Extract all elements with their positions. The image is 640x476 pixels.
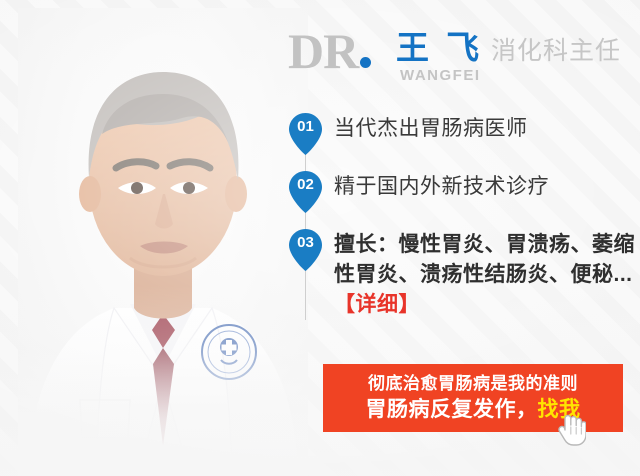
cta-highlight-text: 找我 — [538, 398, 581, 421]
detail-link[interactable]: 【详细】 — [334, 293, 420, 316]
map-pin-icon: 02 — [288, 170, 323, 214]
cta-banner[interactable]: 彻底治愈胃肠病是我的准则 胃肠病反复发作，找我 — [323, 364, 623, 432]
logo-dr-label: DR — [288, 23, 358, 79]
logo-doctor-name: 王 飞 — [396, 30, 483, 66]
credential-item-03: 03 擅长：慢性胃炎、胃溃疡、萎缩性胃炎、溃疡性结肠炎、便秘...【详细】 — [288, 228, 638, 320]
cta-line-2: 胃肠病反复发作，找我 — [366, 396, 581, 424]
doctor-logo-header: DR 王 飞 WANGFEI 消化科主任 — [288, 26, 633, 92]
credential-number: 02 — [288, 176, 323, 193]
credential-specialty-text: 擅长：慢性胃炎、胃溃疡、萎缩性胃炎、溃疡性结肠炎、便秘... — [334, 233, 635, 286]
doctor-portrait — [18, 8, 308, 476]
map-pin-icon: 03 — [288, 228, 323, 272]
logo-doctor-pinyin: WANGFEI — [400, 68, 481, 84]
logo-department-title: 消化科主任 — [491, 37, 621, 65]
credentials-list: 01 当代杰出胃肠病医师 02 精于国内外新技术诊疗 03 擅长：慢性胃炎、胃溃… — [288, 112, 638, 334]
credential-number: 03 — [288, 234, 323, 251]
credential-number: 01 — [288, 118, 323, 135]
cta-line-2-prefix: 胃肠病反复发作， — [366, 398, 538, 421]
blue-dot-icon — [360, 57, 371, 68]
map-pin-icon: 01 — [288, 112, 323, 156]
cta-line-1: 彻底治愈胃肠病是我的准则 — [368, 372, 578, 396]
credential-text: 精于国内外新技术诊疗 — [334, 170, 638, 202]
logo-dr-text: DR — [288, 26, 371, 76]
credential-text: 当代杰出胃肠病医师 — [334, 112, 638, 144]
doctor-promo-banner: DR 王 飞 WANGFEI 消化科主任 01 当代杰出胃肠病医师 02 精于国… — [0, 0, 640, 476]
credential-item-01: 01 当代杰出胃肠病医师 — [288, 112, 638, 156]
credential-text: 擅长：慢性胃炎、胃溃疡、萎缩性胃炎、溃疡性结肠炎、便秘...【详细】 — [334, 228, 638, 320]
credential-item-02: 02 精于国内外新技术诊疗 — [288, 170, 638, 214]
